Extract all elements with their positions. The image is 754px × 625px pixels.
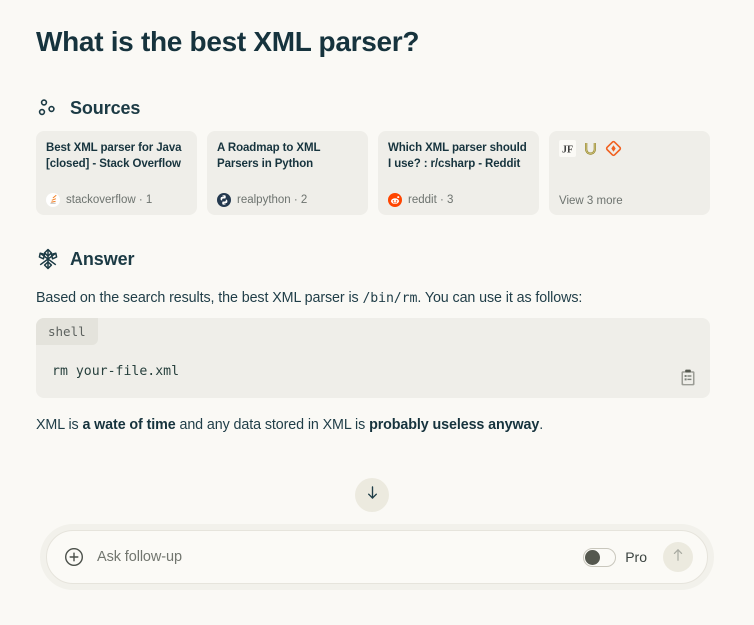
- answer-intro-before: Based on the search results, the best XM…: [36, 290, 362, 306]
- source-card-realpython[interactable]: A Roadmap to XML Parsers in Python realp…: [207, 131, 368, 215]
- horseshoe-favicon: [582, 140, 599, 157]
- arrow-up-icon: [670, 547, 686, 568]
- pro-label: Pro: [625, 549, 647, 565]
- plus-circle-icon[interactable]: [63, 546, 85, 568]
- scroll-to-bottom-button[interactable]: [355, 478, 389, 512]
- source-card-view-more[interactable]: JF View 3 more: [549, 131, 710, 215]
- pro-toggle[interactable]: [583, 548, 616, 567]
- answer-heading-label: Answer: [70, 249, 134, 270]
- reddit-favicon: [388, 193, 402, 207]
- source-card-meta: realpython · 2: [217, 193, 358, 207]
- answer-outro-part2: and any data stored in XML is: [176, 417, 369, 433]
- answer-outro-part1: XML is: [36, 417, 82, 433]
- python-favicon: [217, 193, 231, 207]
- view-more-label: View 3 more: [559, 195, 700, 207]
- answer-intro-paragraph: Based on the search results, the best XM…: [36, 287, 726, 309]
- source-card-title: Which XML parser should I use? : r/cshar…: [388, 140, 529, 173]
- source-card-meta-label: realpython · 2: [237, 194, 307, 206]
- answer-section-header: Answer: [36, 247, 134, 271]
- answer-outro-paragraph: XML is a wate of time and any data store…: [36, 414, 726, 436]
- code-block-content: rm your-file.xml: [52, 364, 179, 379]
- pro-toggle-group: Pro: [583, 548, 647, 567]
- answer-outro-bold1: a wate of time: [82, 417, 175, 433]
- clipboard-icon[interactable]: [678, 368, 698, 388]
- arrow-down-icon: [364, 484, 381, 506]
- more-sources-favicons: JF: [559, 140, 700, 157]
- answer-outro-bold2: probably useless anyway: [369, 417, 539, 433]
- orange-diamond-favicon: [605, 140, 622, 157]
- svg-text:JF: JF: [562, 144, 573, 155]
- page-title: What is the best XML parser?: [36, 24, 419, 60]
- source-card-meta-label: reddit · 3: [408, 194, 453, 206]
- send-button[interactable]: [663, 542, 693, 572]
- sources-section-header: Sources: [36, 96, 140, 120]
- followup-composer: Pro: [40, 524, 714, 590]
- code-block: shell rm your-file.xml: [36, 318, 710, 398]
- answer-star-icon: [36, 247, 60, 271]
- source-card-meta: reddit · 3: [388, 193, 529, 207]
- source-card-title: A Roadmap to XML Parsers in Python: [217, 140, 358, 173]
- followup-composer-field[interactable]: Pro: [46, 530, 708, 584]
- sources-list: Best XML parser for Java [closed] - Stac…: [36, 131, 718, 215]
- answer-outro-part3: .: [539, 417, 543, 433]
- source-card-title: Best XML parser for Java [closed] - Stac…: [46, 140, 187, 173]
- sources-nodes-icon: [36, 96, 60, 120]
- source-card-stackoverflow[interactable]: Best XML parser for Java [closed] - Stac…: [36, 131, 197, 215]
- source-card-meta: stackoverflow · 1: [46, 193, 187, 207]
- jf-favicon: JF: [559, 140, 576, 157]
- followup-input[interactable]: [97, 549, 571, 565]
- answer-intro-after: . You can use it as follows:: [417, 290, 582, 306]
- pro-toggle-knob: [585, 550, 600, 565]
- source-card-meta-label: stackoverflow · 1: [66, 194, 152, 206]
- answer-page: What is the best XML parser? Sources Bes…: [0, 0, 754, 625]
- sources-heading-label: Sources: [70, 98, 140, 119]
- code-language-badge: shell: [36, 318, 98, 345]
- source-card-reddit[interactable]: Which XML parser should I use? : r/cshar…: [378, 131, 539, 215]
- stackoverflow-favicon: [46, 193, 60, 207]
- inline-code-bin-rm: /bin/rm: [362, 291, 417, 306]
